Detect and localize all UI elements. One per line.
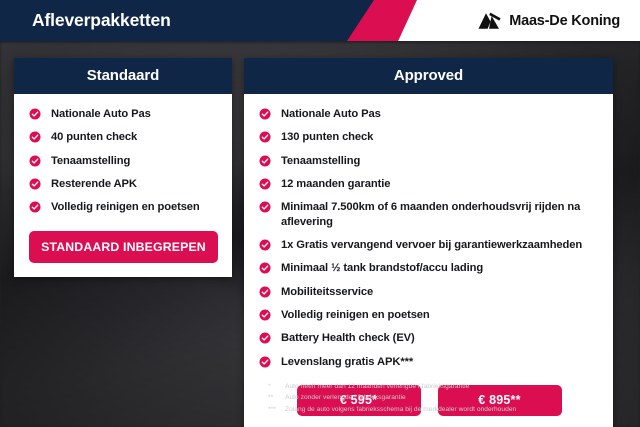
check-circle-icon [259, 262, 271, 274]
footnote-text: Auto zonder verlengde / fabrieksgarantie [285, 392, 618, 403]
page-title: Afleverpakketten [32, 0, 171, 41]
package-card-standaard: Standaard Nationale Auto Pas 40 punten c… [14, 58, 232, 277]
standaard-included-button[interactable]: STANDAARD INBEGREPEN [29, 231, 218, 263]
list-item: Resterende APK [29, 177, 218, 192]
feature-text: Battery Health check (EV) [281, 332, 415, 344]
feature-list-standaard: Nationale Auto Pas 40 punten check Tenaa… [29, 107, 218, 215]
feature-text: Mobiliteitsservice [281, 286, 373, 298]
feature-text: Nationale Auto Pas [51, 108, 151, 120]
list-item: 40 punten check [29, 130, 218, 145]
list-item: Tenaamstelling [259, 154, 599, 169]
check-circle-icon [259, 178, 271, 190]
check-circle-icon [259, 356, 271, 368]
list-item: Nationale Auto Pas [259, 107, 599, 122]
feature-text: 40 punten check [51, 131, 137, 143]
list-item: Tenaamstelling [29, 154, 218, 169]
list-item: 12 maanden garantie [259, 177, 599, 192]
list-item: 1x Gratis vervangend vervoer bij garanti… [259, 238, 599, 253]
check-circle-icon [259, 131, 271, 143]
list-item: Minimaal 7.500km of 6 maanden onderhouds… [259, 200, 599, 230]
check-circle-icon [259, 155, 271, 167]
delivery-packages-page: Afleverpakketten Maas-De Koning Standaar… [0, 0, 640, 427]
check-circle-icon [259, 201, 271, 213]
footnote-2: ** Auto zonder verlengde / fabrieksgaran… [268, 392, 618, 403]
feature-text: Minimaal 7.500km of 6 maanden onderhouds… [281, 201, 580, 228]
feature-text: 130 punten check [281, 131, 373, 143]
list-item: Volledig reinigen en poetsen [259, 308, 599, 323]
feature-text: Nationale Auto Pas [281, 108, 381, 120]
feature-text: Minimaal ½ tank brandstof/accu lading [281, 262, 483, 274]
check-circle-icon [29, 178, 41, 190]
maas-de-koning-m-mark-icon [478, 12, 502, 30]
footnote-marker: *** [268, 404, 285, 415]
check-circle-icon [29, 108, 41, 120]
footnotes: * Auto heeft meer dan 12 maanden verleng… [268, 381, 618, 415]
feature-list-approved: Nationale Auto Pas 130 punten check Tena… [259, 107, 599, 369]
check-circle-icon [29, 201, 41, 213]
list-item: Minimaal ½ tank brandstof/accu lading [259, 261, 599, 276]
feature-text: Tenaamstelling [281, 155, 360, 167]
footnote-3: *** Zolang de auto volgens fabrieksschem… [268, 404, 618, 415]
feature-text: 1x Gratis vervangend vervoer bij garanti… [281, 239, 582, 251]
check-circle-icon [259, 108, 271, 120]
feature-text: Volledig reinigen en poetsen [51, 201, 200, 213]
feature-text: Volledig reinigen en poetsen [281, 309, 430, 321]
topbar-drop-shadow [0, 41, 640, 45]
package-title-approved: Approved [244, 58, 613, 94]
feature-text: Tenaamstelling [51, 155, 130, 167]
feature-text: Resterende APK [51, 178, 137, 190]
list-item: Battery Health check (EV) [259, 331, 599, 346]
package-card-approved: Approved Nationale Auto Pas 130 punten c… [244, 58, 613, 427]
list-item: Volledig reinigen en poetsen [29, 200, 218, 215]
brand-name: Maas-De Koning [509, 13, 620, 29]
footnote-marker: * [268, 381, 285, 392]
package-title-standaard: Standaard [14, 58, 232, 94]
footnote-1: * Auto heeft meer dan 12 maanden verleng… [268, 381, 618, 392]
check-circle-icon [259, 332, 271, 344]
package-body-approved: Nationale Auto Pas 130 punten check Tena… [244, 94, 613, 427]
brand-lockup: Maas-De Koning [478, 0, 620, 41]
feature-text: Levenslang gratis APK*** [281, 356, 413, 368]
package-body-standaard: Nationale Auto Pas 40 punten check Tenaa… [14, 94, 232, 277]
list-item: Mobiliteitsservice [259, 285, 599, 300]
list-item: 130 punten check [259, 130, 599, 145]
list-item: Nationale Auto Pas [29, 107, 218, 122]
footnote-marker: ** [268, 392, 285, 403]
footnote-text: Zolang de auto volgens fabrieksschema bi… [285, 404, 618, 415]
list-item: Levenslang gratis APK*** [259, 355, 599, 370]
check-circle-icon [29, 155, 41, 167]
footnote-text: Auto heeft meer dan 12 maanden verlengde… [285, 381, 618, 392]
check-circle-icon [259, 309, 271, 321]
check-circle-icon [259, 286, 271, 298]
check-circle-icon [29, 131, 41, 143]
feature-text: 12 maanden garantie [281, 178, 390, 190]
check-circle-icon [259, 239, 271, 251]
top-bar: Afleverpakketten Maas-De Koning [0, 0, 640, 41]
